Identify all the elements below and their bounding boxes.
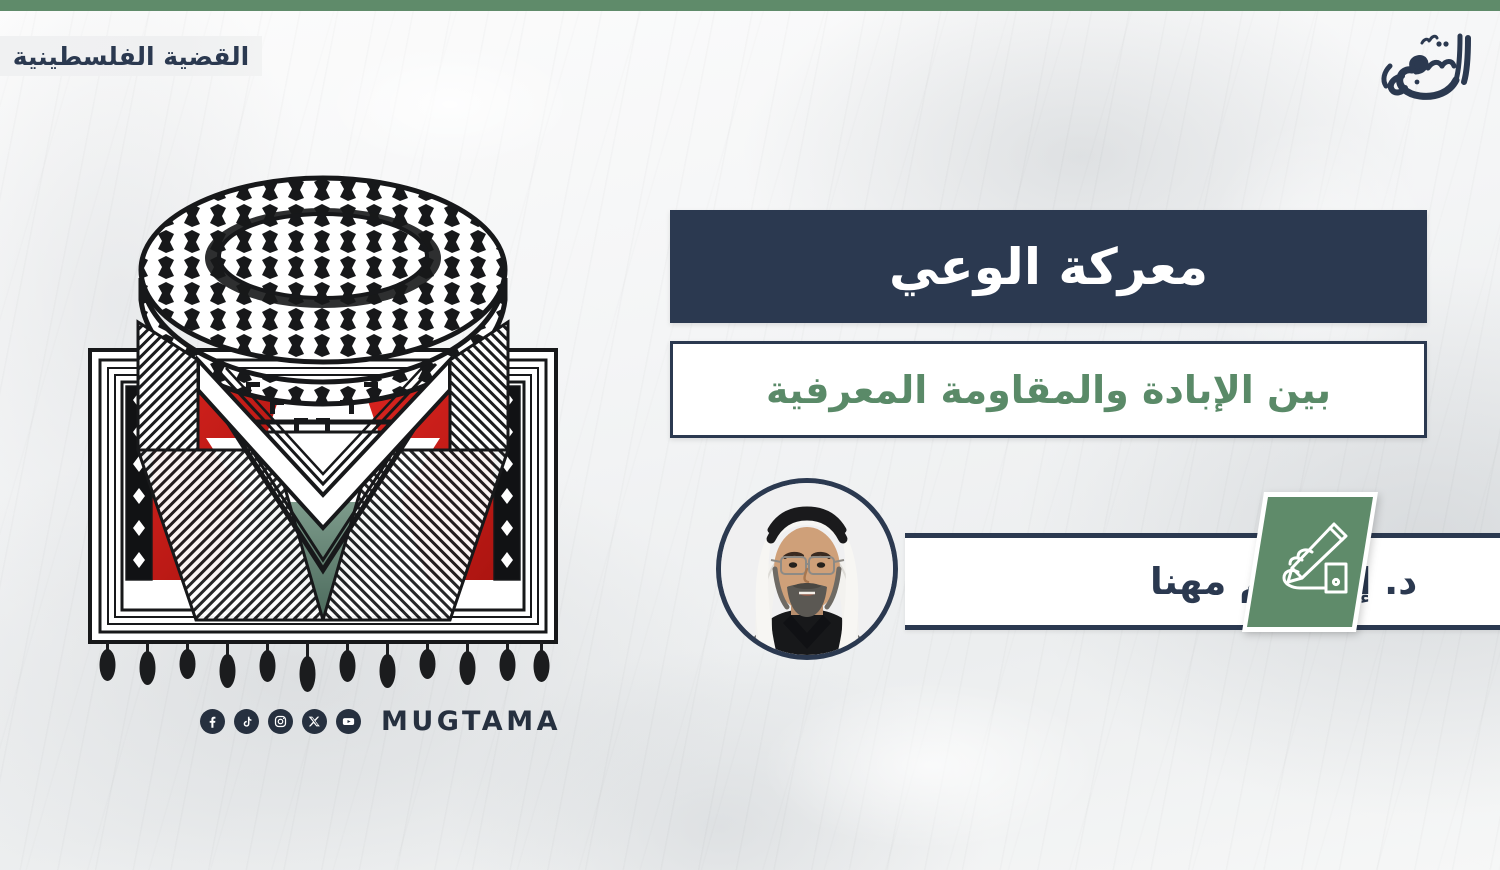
category-badge-label: القضية الفلسطينية bbox=[13, 42, 249, 71]
palestinian-keffiyeh-illustration bbox=[78, 150, 568, 695]
author-row: د. إبراهيم مهنا bbox=[700, 468, 1460, 693]
x-twitter-icon[interactable] bbox=[302, 709, 327, 734]
page-title: معركة الوعي bbox=[889, 242, 1208, 292]
author-portrait bbox=[716, 478, 898, 660]
page-subtitle: بين الإبادة والمقاومة المعرفية bbox=[766, 371, 1331, 409]
facebook-icon[interactable] bbox=[200, 709, 225, 734]
social-links-row[interactable]: MUGTAMA bbox=[200, 706, 561, 737]
writing-hand-pencil-icon bbox=[1240, 486, 1380, 636]
poster-canvas: القضية الفلسطينية bbox=[0, 0, 1500, 870]
article-title-bar: معركة الوعي bbox=[670, 210, 1427, 323]
category-badge: القضية الفلسطينية bbox=[0, 36, 262, 76]
youtube-icon[interactable] bbox=[336, 709, 361, 734]
top-accent-bar bbox=[0, 0, 1500, 11]
tiktok-icon[interactable] bbox=[234, 709, 259, 734]
article-subtitle-bar: بين الإبادة والمقاومة المعرفية bbox=[670, 341, 1427, 438]
instagram-icon[interactable] bbox=[268, 709, 293, 734]
brand-wordmark: MUGTAMA bbox=[381, 706, 561, 737]
author-name-bar: د. إبراهيم مهنا bbox=[905, 533, 1500, 630]
mugtama-calligraphy-logo bbox=[1372, 22, 1484, 108]
